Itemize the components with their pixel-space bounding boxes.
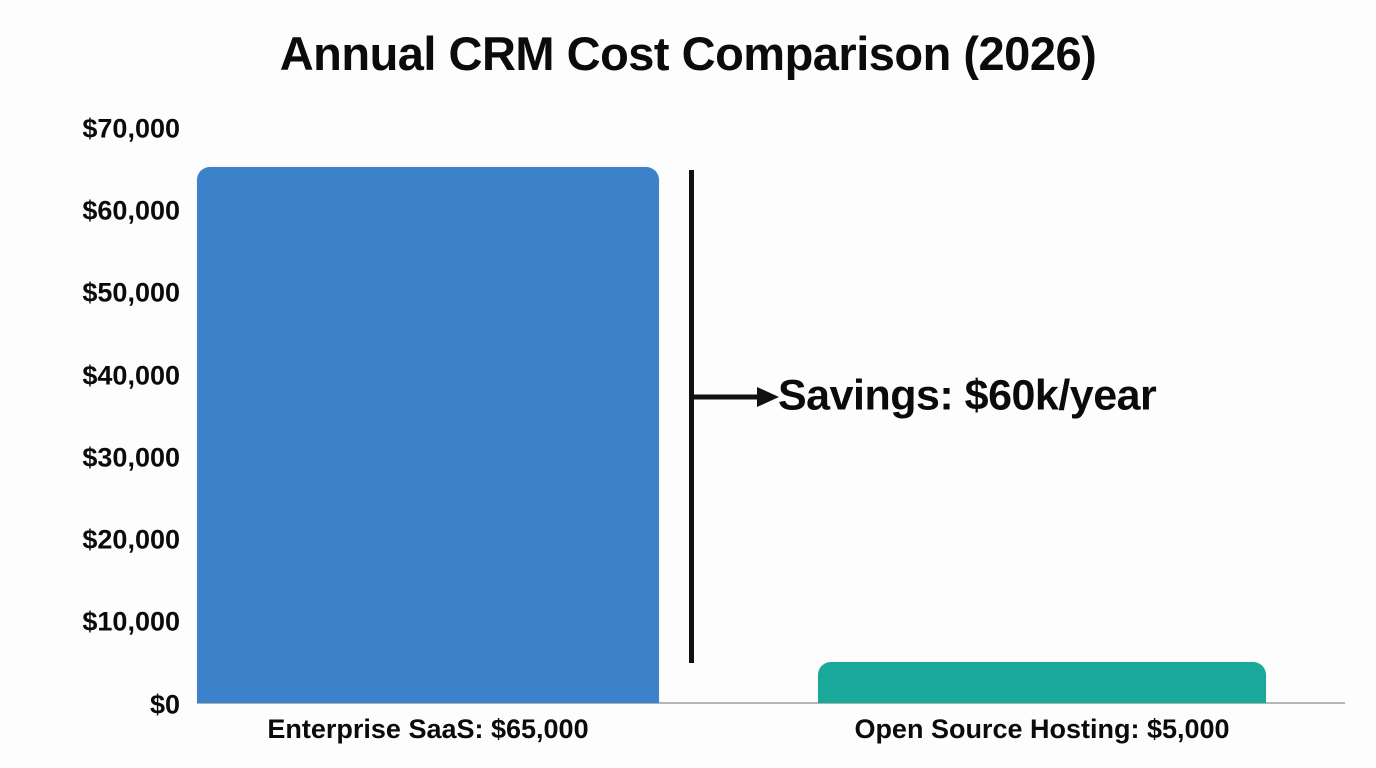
bar-label-enterprise-saas: Enterprise SaaS: $65,000 bbox=[197, 714, 659, 745]
savings-bracket-line bbox=[689, 170, 694, 663]
y-tick-label-30000: $30,000 bbox=[0, 443, 180, 474]
plot-area: $70,000 $60,000 $50,000 $40,000 $30,000 … bbox=[0, 0, 1376, 768]
y-tick-label-50000: $50,000 bbox=[0, 278, 180, 309]
bar-enterprise-saas[interactable] bbox=[197, 167, 659, 703]
savings-arrow-icon bbox=[689, 384, 781, 410]
y-tick-label-40000: $40,000 bbox=[0, 361, 180, 392]
chart-root: Annual CRM Cost Comparison (2026) $70,00… bbox=[0, 0, 1376, 768]
y-tick-label-0: $0 bbox=[0, 690, 180, 721]
y-axis: $70,000 $60,000 $50,000 $40,000 $30,000 … bbox=[0, 0, 180, 768]
bar-open-source-hosting[interactable] bbox=[818, 662, 1266, 703]
y-tick-label-10000: $10,000 bbox=[0, 607, 180, 638]
savings-annotation-label: Savings: $60k/year bbox=[778, 372, 1156, 421]
y-tick-label-20000: $20,000 bbox=[0, 525, 180, 556]
bar-label-open-source-hosting: Open Source Hosting: $5,000 bbox=[818, 714, 1266, 745]
y-tick-label-60000: $60,000 bbox=[0, 196, 180, 227]
y-tick-label-70000: $70,000 bbox=[0, 114, 180, 145]
